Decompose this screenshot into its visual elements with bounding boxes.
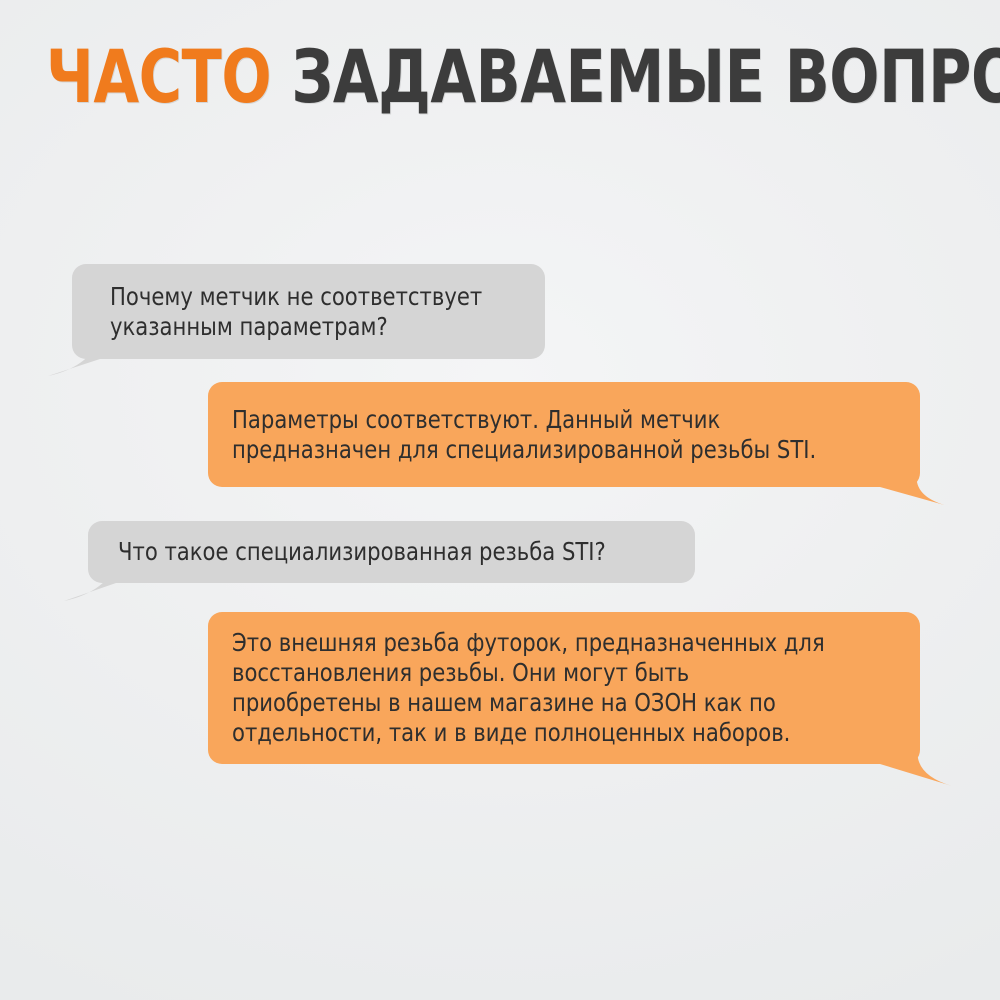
question-bubble-2: Что такое специализированная резьба STI? [88, 521, 695, 583]
page-title: ЧАСТО ЗАДАВАЕМЫЕ ВОПРОСЫ [46, 42, 865, 114]
answer-text-1: Параметры соответствуют. Данный метчик п… [232, 405, 816, 465]
answer-text-2: Это внешняя резьба футорок, предназначен… [232, 628, 825, 748]
question-text-1: Почему метчик не соответствует указанным… [110, 282, 482, 342]
answer-bubble-1: Параметры соответствуют. Данный метчик п… [208, 382, 920, 487]
question-text-2: Что такое специализированная резьба STI? [118, 537, 606, 567]
title-accent-word: ЧАСТО [46, 35, 271, 120]
answer-bubble-2: Это внешняя резьба футорок, предназначен… [208, 612, 920, 764]
bubble-tails [0, 0, 1000, 1000]
title-main-words: ЗАДАВАЕМЫЕ ВОПРОСЫ [271, 35, 1000, 120]
faq-graphic: ЧАСТО ЗАДАВАЕМЫЕ ВОПРОСЫ Почему метчик н… [0, 0, 1000, 1000]
question-bubble-1: Почему метчик не соответствует указанным… [72, 264, 545, 359]
